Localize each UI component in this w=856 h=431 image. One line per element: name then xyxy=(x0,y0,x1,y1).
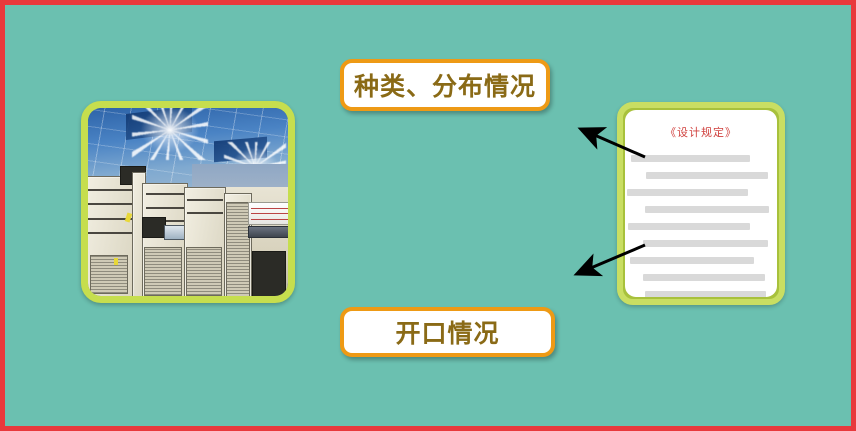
document-text-line xyxy=(643,274,765,281)
cabinet-topbox-2 xyxy=(142,217,166,238)
document-page: 《设计规定》 xyxy=(625,110,777,297)
label-box-kinds-distribution[interactable]: 种类、分布情况 xyxy=(340,59,550,111)
label-box-kinds-distribution-text: 种类、分布情况 xyxy=(354,67,536,103)
label-box-openings-text: 开口情况 xyxy=(395,314,499,350)
cabinet-vent-4 xyxy=(226,202,250,296)
label-box-openings[interactable]: 开口情况 xyxy=(340,307,555,357)
slide-canvas: 种类、分布情况 开口情况 《设计规定》 xyxy=(0,0,856,431)
ceiling-light-flare-1 xyxy=(132,108,208,160)
document-text-line xyxy=(645,291,767,297)
document-text-line xyxy=(645,206,770,213)
document-text-lines xyxy=(625,155,777,287)
control-panel-1 xyxy=(164,225,186,240)
document-text-line xyxy=(646,172,768,179)
document-text-line xyxy=(630,257,755,264)
cabinet-vent-3 xyxy=(186,247,222,296)
work-counter xyxy=(248,226,288,237)
cabinet-vent-1 xyxy=(90,255,128,295)
design-regulation-document-card[interactable]: 《设计规定》 xyxy=(617,102,785,305)
machine-room-photo-image xyxy=(88,108,288,296)
document-text-line xyxy=(628,223,750,230)
document-text-line xyxy=(643,240,768,247)
document-text-line xyxy=(631,155,750,162)
document-text-line xyxy=(627,189,749,196)
machine-room-photo-card[interactable] xyxy=(81,101,295,303)
under-counter-unit xyxy=(252,251,286,296)
document-title: 《设计规定》 xyxy=(625,124,777,140)
cabinet-label-1 xyxy=(114,258,118,265)
cabinet-vent-2 xyxy=(144,247,182,296)
document-shelf xyxy=(248,202,288,225)
